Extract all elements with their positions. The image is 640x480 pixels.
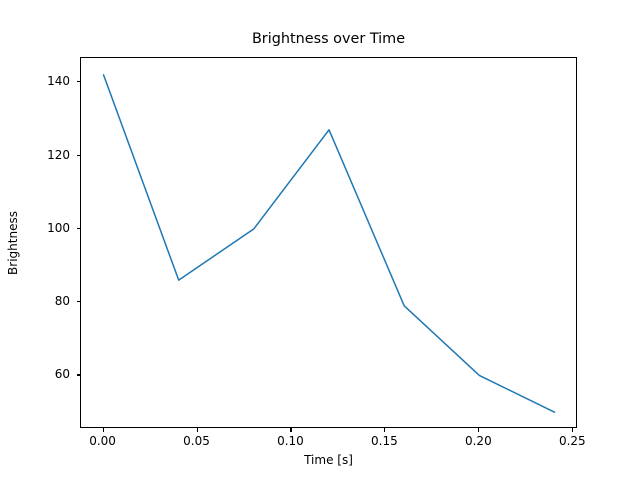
x-tick-label: 0.20 xyxy=(465,434,492,448)
y-axis-label-container: Brightness xyxy=(0,57,26,428)
x-tick-mark xyxy=(197,428,198,432)
x-axis-label: Time [s] xyxy=(80,453,577,467)
x-tick-label: 0.05 xyxy=(183,434,210,448)
y-tick-mark xyxy=(77,81,81,82)
x-tick-label: 0.25 xyxy=(559,434,586,448)
y-tick-mark xyxy=(77,155,81,156)
y-tick-mark xyxy=(77,301,81,302)
chart-figure: Brightness over Time 0.000.050.100.150.2… xyxy=(0,0,640,480)
y-axis-label: Brightness xyxy=(6,211,20,275)
chart-title: Brightness over Time xyxy=(80,30,577,48)
x-tick-mark xyxy=(572,428,573,432)
x-tick-mark xyxy=(103,428,104,432)
x-tick-mark xyxy=(384,428,385,432)
x-tick-mark xyxy=(478,428,479,432)
y-tick-mark xyxy=(77,374,81,375)
line-series-svg xyxy=(81,58,578,429)
y-tick-mark xyxy=(77,228,81,229)
x-tick-label: 0.10 xyxy=(277,434,304,448)
x-tick-label: 0.15 xyxy=(371,434,398,448)
x-tick-label: 0.00 xyxy=(89,434,116,448)
brightness-line xyxy=(104,75,555,412)
plot-area xyxy=(80,57,577,428)
x-tick-mark xyxy=(290,428,291,432)
